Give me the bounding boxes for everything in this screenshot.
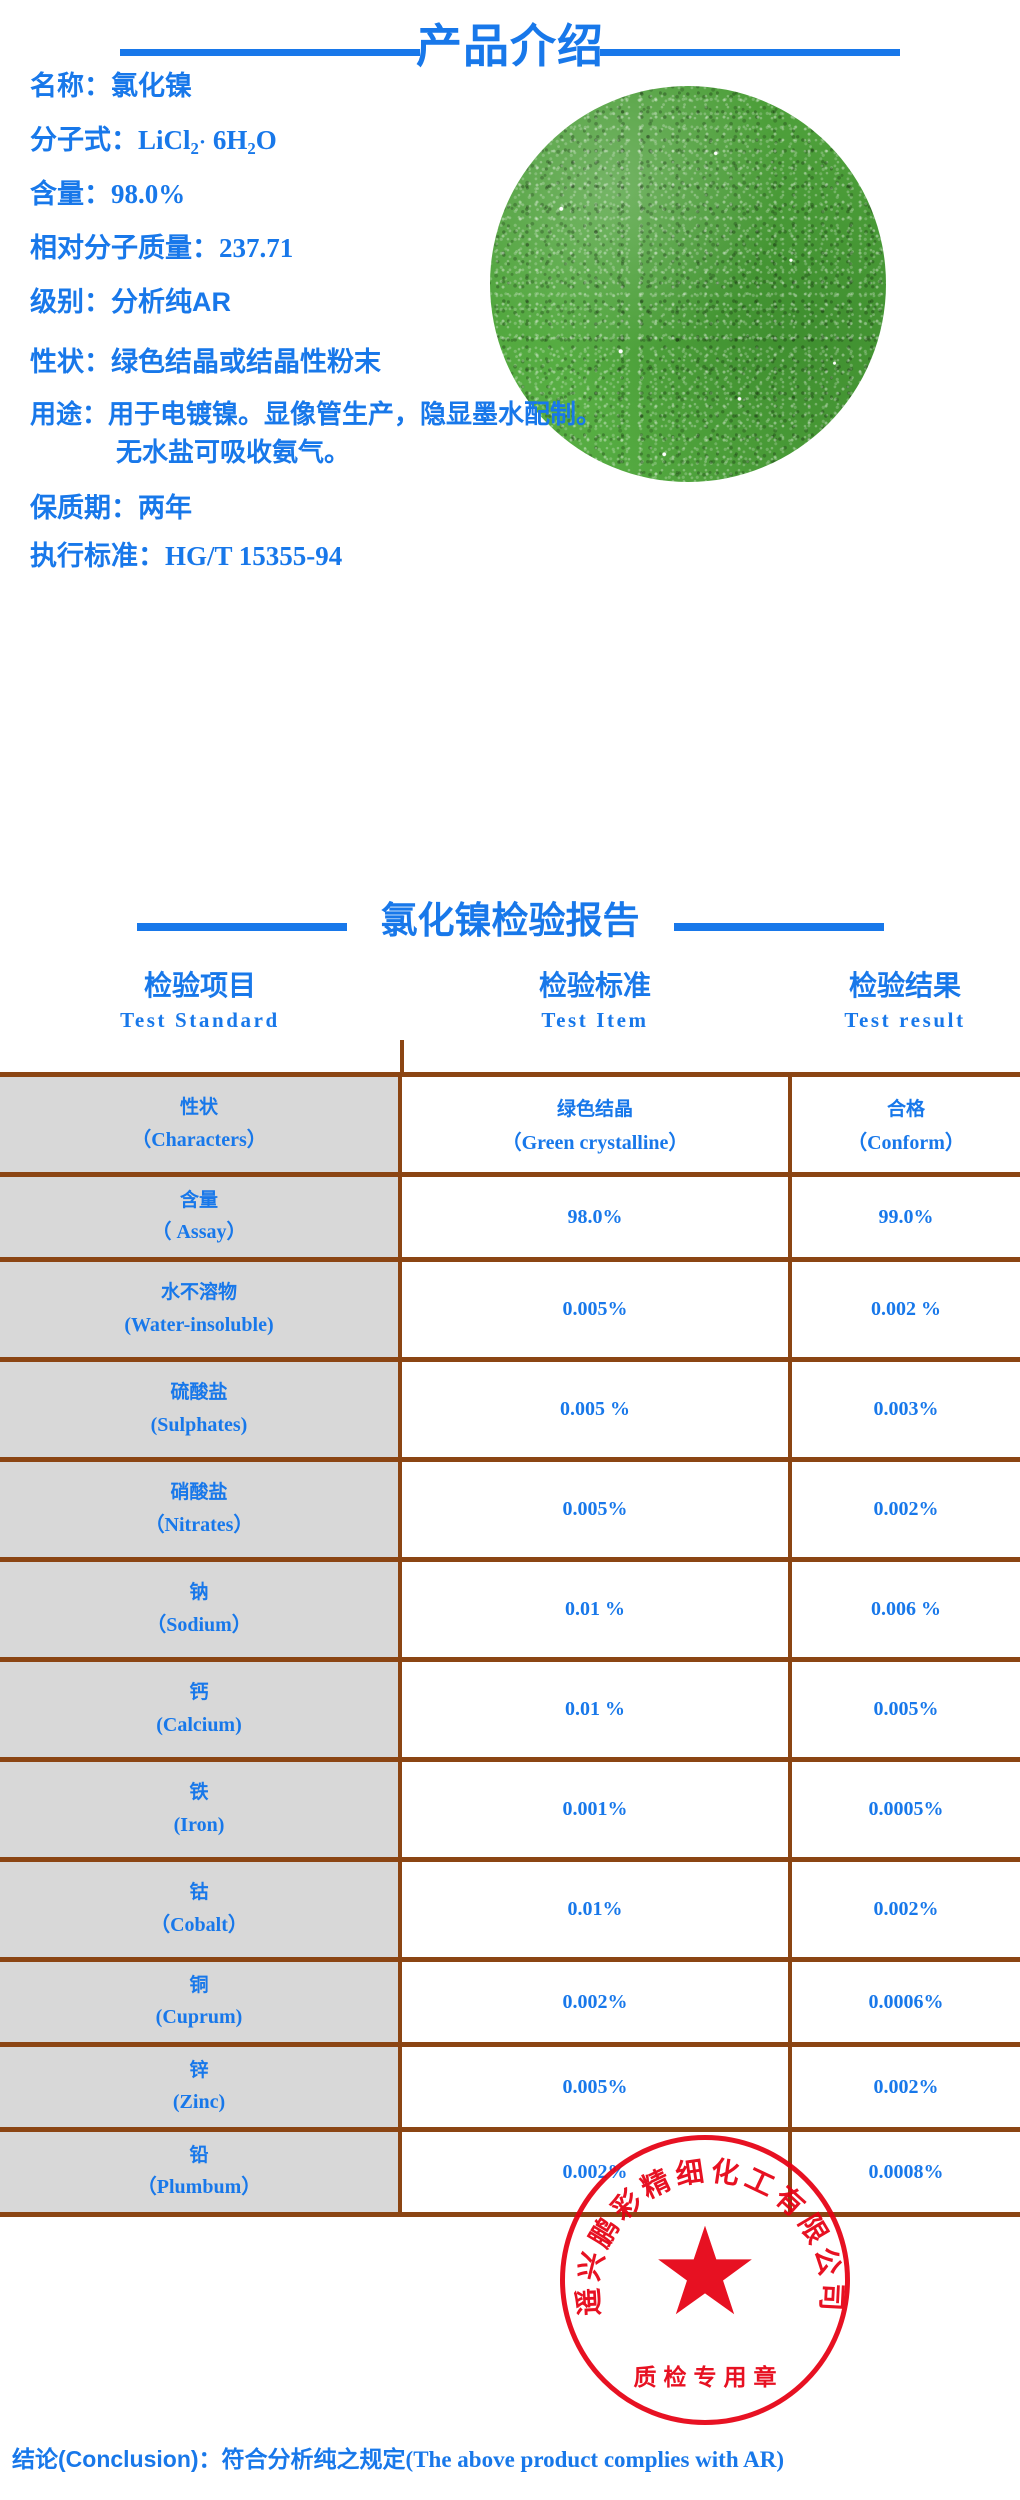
row-result-sulphates: 0.003% xyxy=(790,1360,1020,1460)
row-standard-value: 0.01% xyxy=(568,1898,623,1920)
table-row: 含量 （ Assay） 98.0% 99.0% xyxy=(0,1175,1020,1260)
row-item-en: （ Assay） xyxy=(4,1218,394,1247)
row-item-cn: 铜 xyxy=(4,1972,394,2000)
inspection-report-table: 性状 （Characters） 绿色结晶 （Green crystalline）… xyxy=(0,1072,1020,2217)
row-item-calcium: 钙 (Calcium) xyxy=(0,1660,400,1760)
table-row: 硫酸盐 (Sulphates) 0.005 % 0.003% xyxy=(0,1360,1020,1460)
row-item-cn: 硫酸盐 xyxy=(4,1379,394,1407)
row-item-en: (Zinc) xyxy=(4,2088,394,2117)
row-standard-zinc: 0.005% xyxy=(400,2045,790,2130)
report-rule-right xyxy=(674,923,884,931)
row-item-cn: 硝酸盐 xyxy=(4,1479,394,1507)
row-item-nitrates: 硝酸盐 （Nitrates） xyxy=(0,1460,400,1560)
spec-grade: 级别：分析纯AR xyxy=(30,280,231,319)
column-header-test-item-cn: 检验项目 xyxy=(144,968,256,1003)
row-item-assay: 含量 （ Assay） xyxy=(0,1175,400,1260)
intro-rule-left xyxy=(120,49,420,56)
conclusion-body-en: (The above product complies with AR) xyxy=(406,2447,784,2472)
row-item-sodium: 钠 （Sodium） xyxy=(0,1560,400,1660)
row-item-cn: 含量 xyxy=(4,1187,394,1215)
spec-usage-line2: 无水盐可吸收氨气。 xyxy=(116,432,350,469)
spec-grade-value: 分析纯AR xyxy=(111,287,231,317)
row-standard-plumbum: 0.002% xyxy=(400,2130,790,2215)
spec-shelf-life-value: 两年 xyxy=(138,493,192,523)
row-result-value: 0.0005% xyxy=(869,1798,944,1820)
product-intro-title: 产品介绍 xyxy=(416,23,604,69)
header-column-divider xyxy=(400,1040,404,1072)
spec-name: 名称：氯化镍 xyxy=(30,64,192,103)
row-item-cn: 钙 xyxy=(4,1679,394,1707)
row-result-sodium: 0.006 % xyxy=(790,1560,1020,1660)
spec-assay-value: 98.0% xyxy=(111,179,185,209)
row-result-value: 0.003% xyxy=(874,1398,939,1420)
row-result-iron: 0.0005% xyxy=(790,1760,1020,1860)
row-item-en: （Nitrates） xyxy=(4,1511,394,1540)
intro-rule-right xyxy=(600,49,900,56)
row-item-plumbum: 铅 （Plumbum） xyxy=(0,2130,400,2215)
spec-name-value: 氯化镍 xyxy=(111,71,192,101)
table-row: 钙 (Calcium) 0.01 % 0.005% xyxy=(0,1660,1020,1760)
row-item-water-insoluble: 水不溶物 (Water-insoluble) xyxy=(0,1260,400,1360)
row-item-cn: 铁 xyxy=(4,1779,394,1807)
spec-molecular-weight-value: 237.71 xyxy=(219,233,293,263)
row-item-en: (Iron) xyxy=(4,1811,394,1840)
product-spec-sheet: 产品介绍 名称：氯化镍 分子式：LiCl2· 6H2O 含量：98.0% 相对分… xyxy=(0,0,1020,2500)
spec-usage: 用途：用于电镀镍。显像管生产，隐显墨水配制。 xyxy=(30,394,602,431)
row-item-zinc: 锌 (Zinc) xyxy=(0,2045,400,2130)
column-header-test-standard: 检验标准 Test Item xyxy=(400,966,790,1070)
row-item-en: （Cobalt） xyxy=(4,1911,394,1940)
row-standard-characters: 绿色结晶 （Green crystalline） xyxy=(400,1075,790,1175)
table-row: 铅 （Plumbum） 0.002% 0.0008% xyxy=(0,2130,1020,2215)
conclusion-body-cn: 符合分析纯之规定 xyxy=(222,2446,406,2472)
row-standard-value: 0.005% xyxy=(563,1298,628,1320)
table-row: 铜 (Cuprum) 0.002% 0.0006% xyxy=(0,1960,1020,2045)
row-standard-calcium: 0.01 % xyxy=(400,1660,790,1760)
row-result-plumbum: 0.0008% xyxy=(790,2130,1020,2215)
inspection-report-header: 氯化镍检验报告 xyxy=(0,896,1020,958)
row-result-value: 0.006 % xyxy=(871,1598,941,1620)
row-result-water-insoluble: 0.002 % xyxy=(790,1260,1020,1360)
spec-standard-value: HG/T 15355-94 xyxy=(165,541,342,571)
row-item-cn: 钴 xyxy=(4,1879,394,1907)
spec-shelf-life: 保质期：两年 xyxy=(30,486,192,525)
row-standard-cobalt: 0.01% xyxy=(400,1860,790,1960)
row-standard-value: 0.001% xyxy=(563,1798,628,1820)
row-standard-cn: 绿色结晶 xyxy=(406,1094,784,1121)
row-result-value: 0.0008% xyxy=(869,2161,944,2183)
row-item-en: （Characters） xyxy=(4,1126,394,1155)
row-standard-value: 0.005% xyxy=(563,2076,628,2098)
column-header-test-result-en: Test result xyxy=(844,1005,965,1037)
column-header-test-result: 检验结果 Test result xyxy=(790,966,1020,1070)
row-result-value: 0.002% xyxy=(874,1898,939,1920)
row-standard-water-insoluble: 0.005% xyxy=(400,1260,790,1360)
conclusion-line: 结论(Conclusion)：符合分析纯之规定(The above produc… xyxy=(12,2440,1012,2474)
row-standard-nitrates: 0.005% xyxy=(400,1460,790,1560)
row-result-value: 0.002% xyxy=(874,2076,939,2098)
conclusion-prefix: 结论(Conclusion)： xyxy=(12,2446,222,2472)
row-result-calcium: 0.005% xyxy=(790,1660,1020,1760)
row-standard-value: 0.01 % xyxy=(565,1598,625,1620)
row-result-en: （Conform） xyxy=(796,1126,1016,1155)
column-header-test-item: 检验项目 Test Standard xyxy=(0,966,400,1070)
spec-standard-label: 执行标准： xyxy=(30,541,165,571)
row-item-cuprum: 铜 (Cuprum) xyxy=(0,1960,400,2045)
row-standard-sulphates: 0.005 % xyxy=(400,1360,790,1460)
row-result-value: 0.002 % xyxy=(871,1298,941,1320)
row-result-value: 0.002% xyxy=(874,1498,939,1520)
row-standard-en: （Green crystalline） xyxy=(406,1126,784,1155)
row-item-cn: 钠 xyxy=(4,1579,394,1607)
spec-usage-line2-value: 无水盐可吸收氨气。 xyxy=(116,437,350,467)
row-result-characters: 合格 （Conform） xyxy=(790,1075,1020,1175)
row-standard-assay: 98.0% xyxy=(400,1175,790,1260)
report-rule-left xyxy=(137,923,347,931)
table-row: 硝酸盐 （Nitrates） 0.005% 0.002% xyxy=(0,1460,1020,1560)
row-item-en: (Water-insoluble) xyxy=(4,1311,394,1340)
row-standard-cuprum: 0.002% xyxy=(400,1960,790,2045)
row-result-zinc: 0.002% xyxy=(790,2045,1020,2130)
row-item-characters: 性状 （Characters） xyxy=(0,1075,400,1175)
report-table-header: 检验项目 Test Standard 检验标准 Test Item 检验结果 T… xyxy=(0,966,1020,1070)
row-item-sulphates: 硫酸盐 (Sulphates) xyxy=(0,1360,400,1460)
row-item-en: (Sulphates) xyxy=(4,1411,394,1440)
row-standard-value: 0.005% xyxy=(563,1498,628,1520)
spec-molecular-weight-label: 相对分子质量： xyxy=(30,233,219,263)
row-standard-value: 0.002% xyxy=(563,1991,628,2013)
row-standard-iron: 0.001% xyxy=(400,1760,790,1860)
table-row: 锌 (Zinc) 0.005% 0.002% xyxy=(0,2045,1020,2130)
column-header-test-standard-en: Test Item xyxy=(541,1005,648,1037)
row-item-en: （Sodium） xyxy=(4,1611,394,1640)
row-result-cobalt: 0.002% xyxy=(790,1860,1020,1960)
spec-characters: 性状：绿色结晶或结晶性粉末 xyxy=(30,340,381,379)
spec-usage-value: 用于电镀镍。显像管生产，隐显墨水配制。 xyxy=(108,399,602,429)
spec-formula-value: LiCl2· 6H2O xyxy=(138,125,277,155)
row-result-value: 0.0006% xyxy=(869,1991,944,2013)
spec-formula: 分子式：LiCl2· 6H2O xyxy=(30,118,277,159)
row-result-nitrates: 0.002% xyxy=(790,1460,1020,1560)
row-item-en: （Plumbum） xyxy=(4,2173,394,2202)
row-item-cn: 水不溶物 xyxy=(4,1279,394,1307)
row-item-en: (Calcium) xyxy=(4,1711,394,1740)
row-standard-value: 0.002% xyxy=(563,2161,628,2183)
spec-characters-label: 性状： xyxy=(30,347,111,377)
table-row: 性状 （Characters） 绿色结晶 （Green crystalline）… xyxy=(0,1075,1020,1175)
row-standard-value: 0.005 % xyxy=(560,1398,630,1420)
row-item-cn: 锌 xyxy=(4,2057,394,2085)
column-header-test-result-cn: 检验结果 xyxy=(849,968,961,1003)
row-result-cuprum: 0.0006% xyxy=(790,1960,1020,2045)
stamp-bottom-text: 质检专用章 xyxy=(565,2358,845,2392)
row-item-iron: 铁 (Iron) xyxy=(0,1760,400,1860)
table-row: 钴 （Cobalt） 0.01% 0.002% xyxy=(0,1860,1020,1960)
row-result-value: 99.0% xyxy=(879,1206,934,1228)
row-item-cn: 铅 xyxy=(4,2142,394,2170)
row-item-cn: 性状 xyxy=(4,1094,394,1122)
spec-assay: 含量：98.0% xyxy=(30,172,185,211)
row-item-en: (Cuprum) xyxy=(4,2003,394,2032)
row-result-value: 0.005% xyxy=(874,1698,939,1720)
table-row: 铁 (Iron) 0.001% 0.0005% xyxy=(0,1760,1020,1860)
spec-shelf-life-label: 保质期： xyxy=(30,493,138,523)
table-body: 性状 （Characters） 绿色结晶 （Green crystalline）… xyxy=(0,1075,1020,2215)
spec-molecular-weight: 相对分子质量：237.71 xyxy=(30,226,293,265)
spec-standard: 执行标准：HG/T 15355-94 xyxy=(30,534,342,573)
column-header-test-item-en: Test Standard xyxy=(120,1005,280,1037)
spec-formula-label: 分子式： xyxy=(30,125,138,155)
table-row: 水不溶物 (Water-insoluble) 0.005% 0.002 % xyxy=(0,1260,1020,1360)
spec-name-label: 名称： xyxy=(30,71,111,101)
column-header-test-standard-cn: 检验标准 xyxy=(539,968,651,1003)
spec-assay-label: 含量： xyxy=(30,179,111,209)
spec-grade-label: 级别： xyxy=(30,287,111,317)
row-result-cn: 合格 xyxy=(796,1094,1016,1121)
spec-characters-value: 绿色结晶或结晶性粉末 xyxy=(111,347,381,377)
row-standard-sodium: 0.01 % xyxy=(400,1560,790,1660)
row-standard-value: 0.01 % xyxy=(565,1698,625,1720)
row-standard-value: 98.0% xyxy=(568,1206,623,1228)
table-row: 钠 （Sodium） 0.01 % 0.006 % xyxy=(0,1560,1020,1660)
inspection-report-title: 氯化镍检验报告 xyxy=(381,902,640,939)
spec-usage-label: 用途： xyxy=(30,399,108,429)
row-result-assay: 99.0% xyxy=(790,1175,1020,1260)
row-item-cobalt: 钴 （Cobalt） xyxy=(0,1860,400,1960)
